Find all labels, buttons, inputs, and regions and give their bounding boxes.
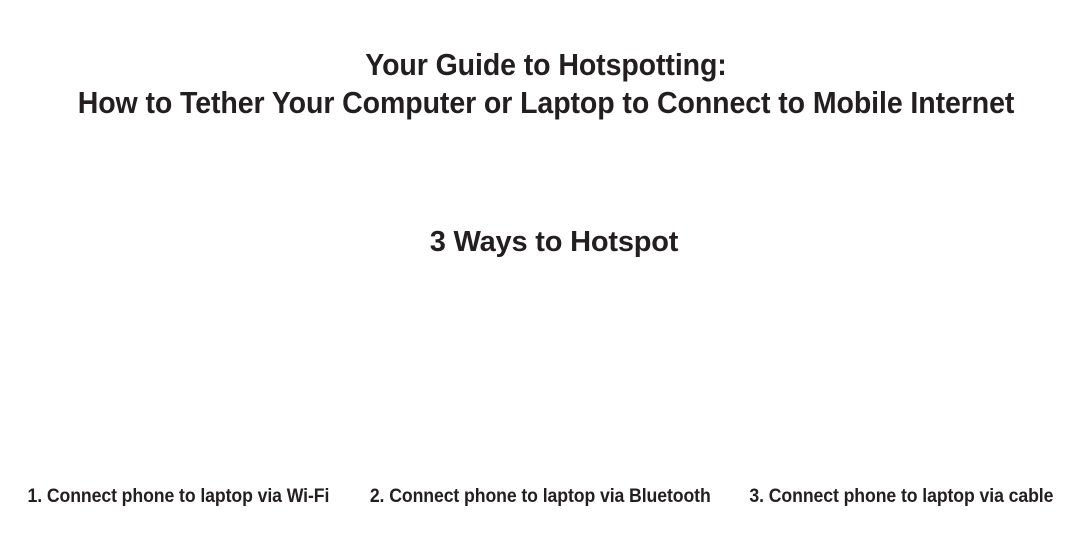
illustration-slot-cable xyxy=(720,280,1080,480)
page-title: Your Guide to Hotspotting: How to Tether… xyxy=(0,46,1080,122)
illustration-area xyxy=(0,280,1080,480)
step-caption-cable: 3. Connect phone to laptop via cable xyxy=(736,486,1068,508)
illustration-slot-wifi xyxy=(0,280,360,480)
illustration-slot-bluetooth xyxy=(360,280,720,480)
page-title-line-2: How to Tether Your Computer or Laptop to… xyxy=(44,84,1049,122)
page-title-line-1: Your Guide to Hotspotting: xyxy=(44,46,1049,84)
step-captions-row: 1. Connect phone to laptop via Wi-Fi 2. … xyxy=(0,486,1080,512)
section-heading: 3 Ways to Hotspot xyxy=(0,225,1080,259)
step-caption-bluetooth: 2. Connect phone to laptop via Bluetooth xyxy=(370,486,711,508)
infographic-canvas: Your Guide to Hotspotting: How to Tether… xyxy=(0,0,1080,552)
step-caption-wifi: 1. Connect phone to laptop via Wi-Fi xyxy=(12,486,344,508)
